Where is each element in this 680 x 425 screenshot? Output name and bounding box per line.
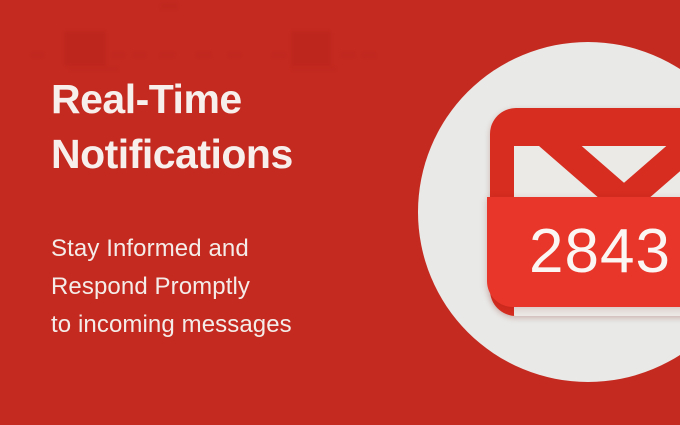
unread-count-badge[interactable]: 2843: [487, 197, 680, 307]
texture-block: [291, 31, 331, 66]
notification-banner: Real-Time Notifications Stay Informed an…: [0, 0, 680, 425]
texture-block: [112, 52, 125, 58]
texture-block: [341, 52, 355, 58]
subtitle-line-3: to incoming messages: [51, 306, 391, 344]
texture-block: [272, 52, 286, 58]
headline-line-2: Notifications: [51, 127, 391, 182]
mail-notification-graphic: 2843: [418, 42, 680, 382]
texture-block: [160, 2, 178, 10]
texture-block: [196, 52, 211, 58]
texture-block: [362, 52, 376, 58]
texture-block: [228, 52, 241, 58]
texture-block: [133, 52, 146, 58]
subtitle-line-1: Stay Informed and: [51, 230, 391, 268]
texture-block: [160, 52, 175, 58]
texture-block: [64, 31, 106, 66]
headline-line-1: Real-Time: [51, 72, 391, 127]
page-subtitle: Stay Informed and Respond Promptly to in…: [51, 230, 391, 344]
texture-block: [31, 52, 44, 58]
unread-count-value: 2843: [487, 221, 671, 283]
subtitle-line-2: Respond Promptly: [51, 268, 391, 306]
page-title: Real-Time Notifications: [51, 72, 391, 182]
